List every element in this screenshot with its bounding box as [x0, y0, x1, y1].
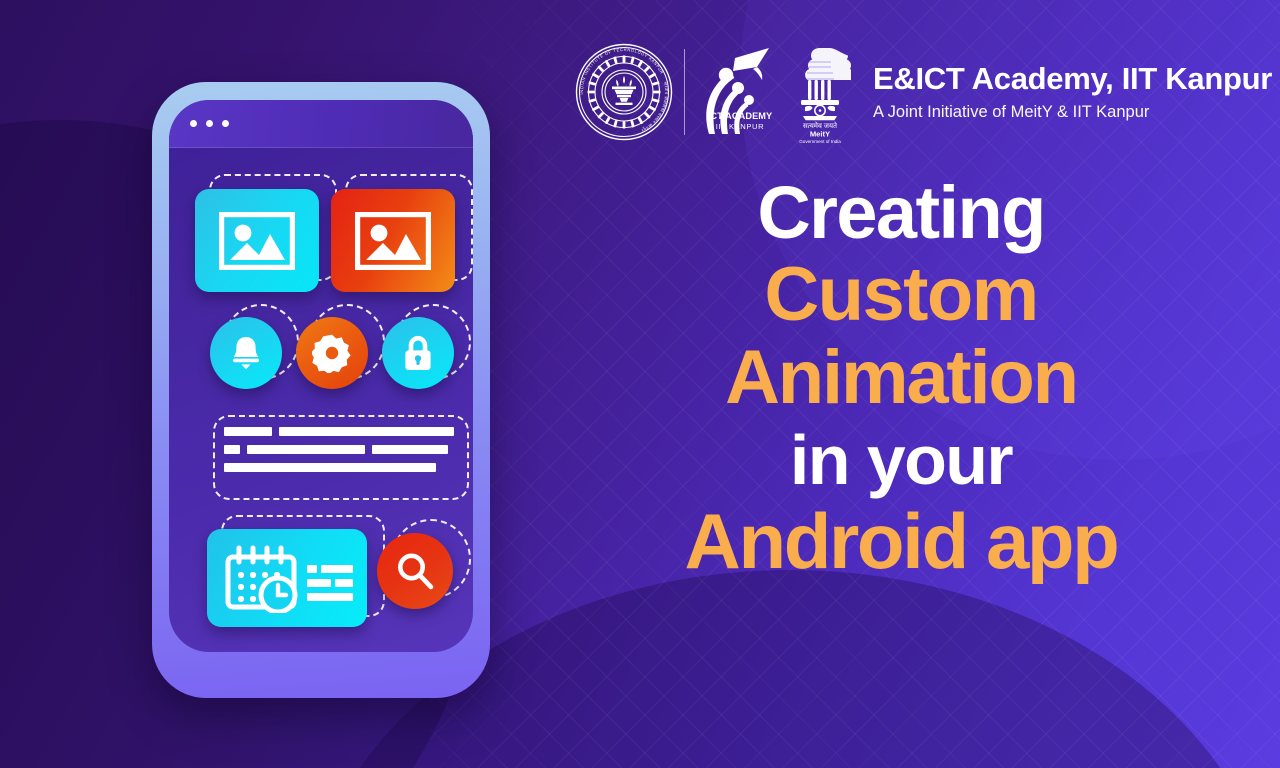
svg-text:भारतीय प्रौद्योगिकी संस्थान का: भारतीय प्रौद्योगिकी संस्थान कानपुर — [640, 81, 669, 133]
settings-button[interactable] — [296, 317, 368, 389]
text-bar — [372, 445, 448, 454]
bell-icon — [229, 335, 263, 371]
text-bar — [224, 445, 240, 454]
svg-text:MeitY: MeitY — [810, 130, 830, 139]
headline-block: Creating Custom Animation in your Androi… — [640, 176, 1162, 580]
header-logo-strip: INDIAN INSTITUTE OF TECHNOLOGY KANPUR भा… — [572, 36, 1272, 148]
phone-mockup — [152, 82, 490, 698]
image-icon — [355, 212, 431, 270]
lock-icon — [402, 334, 434, 372]
svg-text:ICT ACADEMY: ICT ACADEMY — [708, 111, 773, 121]
window-dot-3 — [222, 120, 229, 127]
phone-screen — [169, 100, 473, 652]
promo-banner: INDIAN INSTITUTE OF TECHNOLOGY KANPUR भा… — [0, 0, 1280, 768]
svg-text:IIT KANPUR: IIT KANPUR — [716, 122, 764, 131]
headline-line-4: in your — [640, 426, 1162, 495]
header-title: E&ICT Academy, IIT Kanpur — [873, 62, 1272, 95]
text-line-row-2 — [224, 445, 454, 454]
image-tile-red[interactable] — [331, 189, 455, 292]
svg-text:Government of India: Government of India — [799, 139, 841, 144]
phone-screen-body — [169, 147, 473, 652]
bell-button[interactable] — [210, 317, 282, 389]
image-tile-cyan[interactable] — [195, 189, 319, 292]
text-bar — [224, 427, 272, 436]
headline-line-1: Creating — [640, 176, 1162, 249]
text-lines-block[interactable] — [224, 427, 454, 472]
meity-emblem-icon: सत्यमेव जयते MeitY Government of India — [789, 40, 851, 144]
image-icon — [219, 212, 295, 270]
text-bar — [279, 427, 454, 436]
iit-kanpur-seal-icon: INDIAN INSTITUTE OF TECHNOLOGY KANPUR भा… — [572, 40, 676, 144]
search-button[interactable] — [377, 533, 453, 609]
header-subtitle: A Joint Initiative of MeitY & IIT Kanpur — [873, 103, 1272, 122]
window-dot-1 — [190, 120, 197, 127]
gear-icon — [312, 333, 352, 373]
calendar-clock-icon — [221, 543, 353, 613]
window-dots — [190, 120, 229, 127]
headline-line-2: Custom — [640, 257, 1162, 332]
window-dot-2 — [206, 120, 213, 127]
text-bar — [247, 445, 365, 454]
text-line-row-3 — [224, 463, 454, 472]
search-icon — [394, 550, 436, 592]
phone-title-bar — [169, 100, 473, 148]
headline-line-3: Animation — [640, 340, 1162, 415]
header-text-block: E&ICT Academy, IIT Kanpur A Joint Initia… — [873, 62, 1272, 121]
headline-line-5: Android app — [640, 503, 1162, 580]
text-bar — [224, 463, 436, 472]
text-line-row-1 — [224, 427, 454, 436]
calendar-tile[interactable] — [207, 529, 367, 627]
lock-button[interactable] — [382, 317, 454, 389]
logo-divider — [684, 49, 685, 135]
ict-academy-logo-icon: ICT ACADEMY IIT KANPUR — [699, 40, 781, 144]
